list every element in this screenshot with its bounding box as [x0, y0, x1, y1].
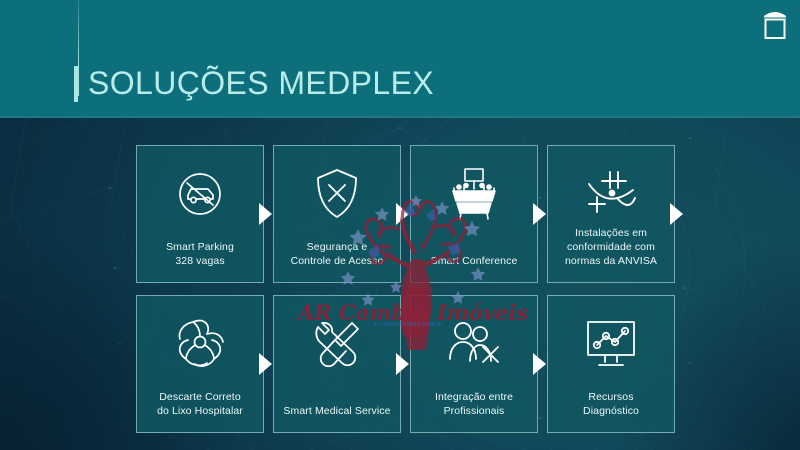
card-smart-medical-service[interactable]: Smart Medical Service — [273, 295, 401, 433]
card-label: Smart Medical Service — [279, 404, 395, 418]
medplex-logo-mark — [760, 7, 790, 40]
flow-arrow-icon — [533, 353, 546, 375]
flow-arrow-icon — [396, 353, 409, 375]
flow-arrow-icon — [670, 203, 683, 225]
card-label: Recursos Diagnóstico — [553, 390, 669, 418]
flow-arrow-icon — [533, 203, 546, 225]
conference-room-icon — [411, 160, 537, 228]
slide-header: SOLUÇÕES MEDPLEX — [0, 0, 800, 118]
card-label: Segurança e Controle de Acesso — [279, 240, 395, 268]
page-title: SOLUÇÕES MEDPLEX — [88, 63, 434, 103]
shield-x-icon — [274, 160, 400, 228]
header-hairline — [78, 0, 79, 96]
card-label: Integração entre Profissionais — [416, 390, 532, 418]
flow-arrow-icon — [259, 353, 272, 375]
card-smart-parking[interactable]: Smart Parking 328 vagas — [136, 145, 264, 283]
solutions-card-grid: Smart Parking 328 vagas Segurança e Cont… — [136, 145, 674, 437]
no-parking-car-icon — [137, 160, 263, 228]
card-label: Smart Parking 328 vagas — [142, 240, 258, 268]
card-recursos-diagnostico[interactable]: Recursos Diagnóstico — [547, 295, 675, 433]
card-label: Smart Conference — [416, 254, 532, 268]
flow-arrow-icon — [259, 203, 272, 225]
title-accent-bar — [74, 66, 78, 102]
slide-canvas: SOLUÇÕES MEDPLEX — [0, 0, 800, 450]
card-label: Instalações em conformidade com normas d… — [553, 226, 669, 268]
card-label: Descarte Correto do Lixo Hospitalar — [142, 390, 258, 418]
people-network-icon — [411, 310, 537, 378]
flow-arrow-icon — [396, 203, 409, 225]
wrench-screwdriver-icon — [274, 310, 400, 378]
monitor-chart-icon — [548, 310, 674, 378]
card-smart-conference[interactable]: Smart Conference — [410, 145, 538, 283]
anvisa-logo-icon — [548, 160, 674, 228]
card-integracao-profissionais[interactable]: Integração entre Profissionais — [410, 295, 538, 433]
biohazard-icon — [137, 310, 263, 378]
card-descarte-lixo-hospitalar[interactable]: Descarte Correto do Lixo Hospitalar — [136, 295, 264, 433]
card-anvisa-conformidade[interactable]: Instalações em conformidade com normas d… — [547, 145, 675, 283]
card-seguranca-controle-acesso[interactable]: Segurança e Controle de Acesso — [273, 145, 401, 283]
